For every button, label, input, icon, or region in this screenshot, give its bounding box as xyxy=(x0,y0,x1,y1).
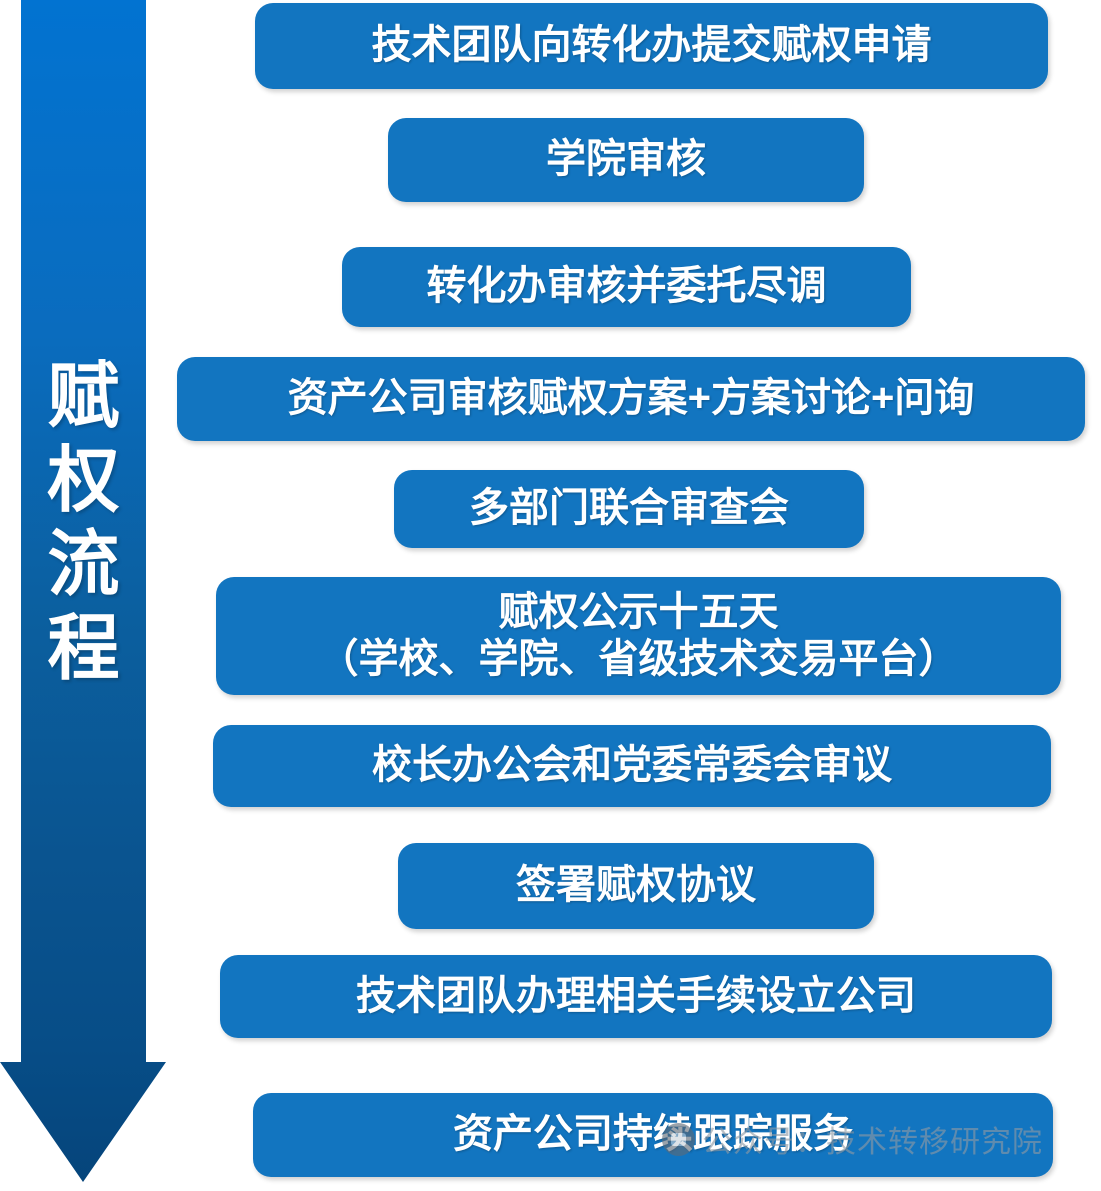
process-step-box[interactable]: 签署赋权协议 xyxy=(398,843,874,929)
process-step-label: 多部门联合审查会 xyxy=(459,485,799,532)
process-step-label: 技术团队向转化办提交赋权申请 xyxy=(362,22,942,69)
process-step-box[interactable]: 学院审核 xyxy=(388,118,864,202)
arrow-label: 赋 权 流 程 xyxy=(21,355,146,691)
process-step-box[interactable]: 赋权公示十五天 （学校、学院、省级技术交易平台） xyxy=(216,577,1061,695)
process-arrow: 赋 权 流 程 xyxy=(0,0,170,1191)
process-step-box[interactable]: 资产公司持续跟踪服务 xyxy=(253,1093,1053,1177)
process-step-box[interactable]: 校长办公会和党委常委会审议 xyxy=(213,725,1051,807)
process-step-label: 技术团队办理相关手续设立公司 xyxy=(346,973,926,1020)
process-step-label: 签署赋权协议 xyxy=(506,862,766,909)
process-step-box[interactable]: 转化办审核并委托尽调 xyxy=(342,247,911,327)
process-step-box[interactable]: 资产公司审核赋权方案+方案讨论+问询 xyxy=(177,357,1085,441)
process-step-label: 转化办审核并委托尽调 xyxy=(417,263,837,310)
process-step-label: 资产公司审核赋权方案+方案讨论+问询 xyxy=(278,375,985,422)
flowchart-canvas: 赋 权 流 程 技术团队向转化办提交赋权申请学院审核转化办审核并委托尽调资产公司… xyxy=(0,0,1101,1191)
process-step-label: 学院审核 xyxy=(536,136,716,183)
process-step-label: 校长办公会和党委常委会审议 xyxy=(362,742,902,789)
process-step-box[interactable]: 技术团队向转化办提交赋权申请 xyxy=(255,3,1048,89)
process-step-box[interactable]: 技术团队办理相关手续设立公司 xyxy=(220,955,1052,1038)
process-step-label: 资产公司持续跟踪服务 xyxy=(443,1111,863,1158)
process-step-label: 赋权公示十五天 （学校、学院、省级技术交易平台） xyxy=(309,589,969,683)
process-step-box[interactable]: 多部门联合审查会 xyxy=(394,470,864,548)
